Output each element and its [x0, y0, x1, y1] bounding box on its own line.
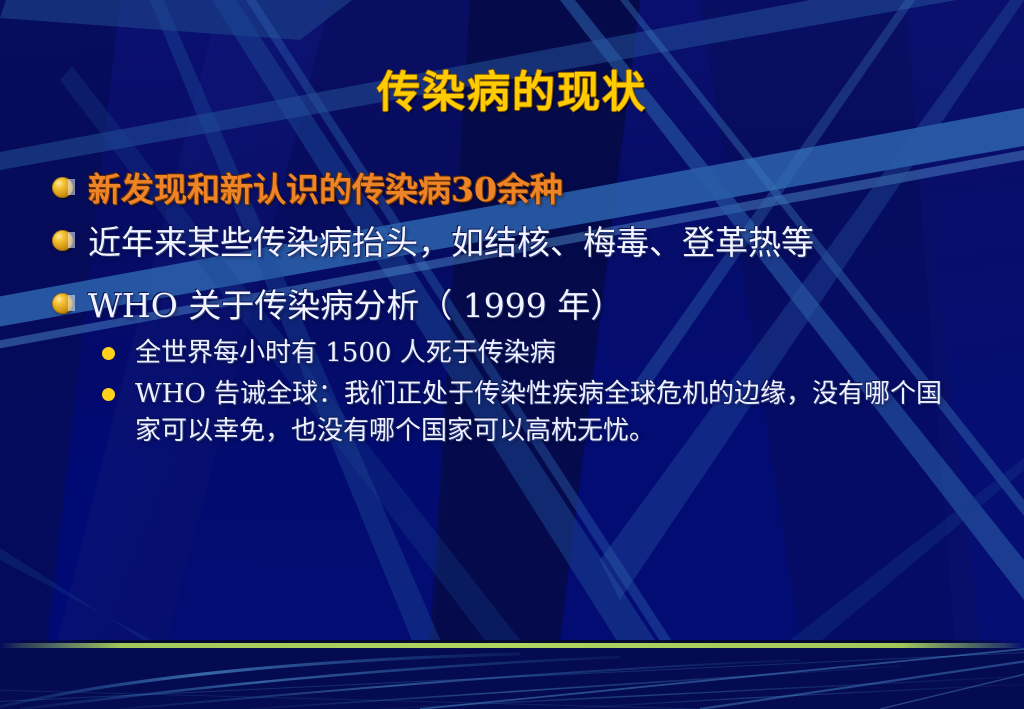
accent-rule: [0, 643, 1024, 648]
gold-sphere-bullet-icon: [52, 219, 88, 251]
yellow-dot-bullet-icon: [102, 376, 135, 401]
slide-body: 新发现和新认识的传染病30余种 近年来某些传染病抬头，如结核、梅毒、登革热等 W…: [52, 166, 952, 454]
presentation-slide: 传染病的现状 新发现和新认识的传染病30余种 近年来某些传染病抬头，如结核、梅毒…: [0, 0, 1024, 709]
sub-bullet-item-2: WHO 告诫全球：我们正处于传染性疾病全球危机的边缘，没有哪个国家可以幸免，也没…: [102, 376, 952, 450]
bullet-spacer: [52, 272, 952, 282]
bullet-text-3: WHO 关于传染病分析（ 1999 年）: [88, 282, 952, 329]
sub-bullet-item-1: 全世界每小时有 1500 人死于传染病: [102, 335, 952, 372]
slide-title: 传染病的现状: [0, 58, 1024, 120]
bullet-item-3: WHO 关于传染病分析（ 1999 年）: [52, 282, 952, 329]
bullet-item-1: 新发现和新认识的传染病30余种: [52, 166, 952, 213]
sub-bullet-text-2: WHO 告诫全球：我们正处于传染性疾病全球危机的边缘，没有哪个国家可以幸免，也没…: [135, 376, 952, 450]
sub-bullet-text-1: 全世界每小时有 1500 人死于传染病: [135, 335, 952, 372]
bullet-text-2: 近年来某些传染病抬头，如结核、梅毒、登革热等: [88, 219, 952, 266]
bullet-item-2: 近年来某些传染病抬头，如结核、梅毒、登革热等: [52, 219, 952, 266]
gold-sphere-bullet-icon: [52, 166, 88, 198]
yellow-dot-bullet-icon: [102, 335, 135, 360]
bullet-text-1: 新发现和新认识的传染病30余种: [88, 166, 952, 213]
gold-sphere-bullet-icon: [52, 282, 88, 314]
